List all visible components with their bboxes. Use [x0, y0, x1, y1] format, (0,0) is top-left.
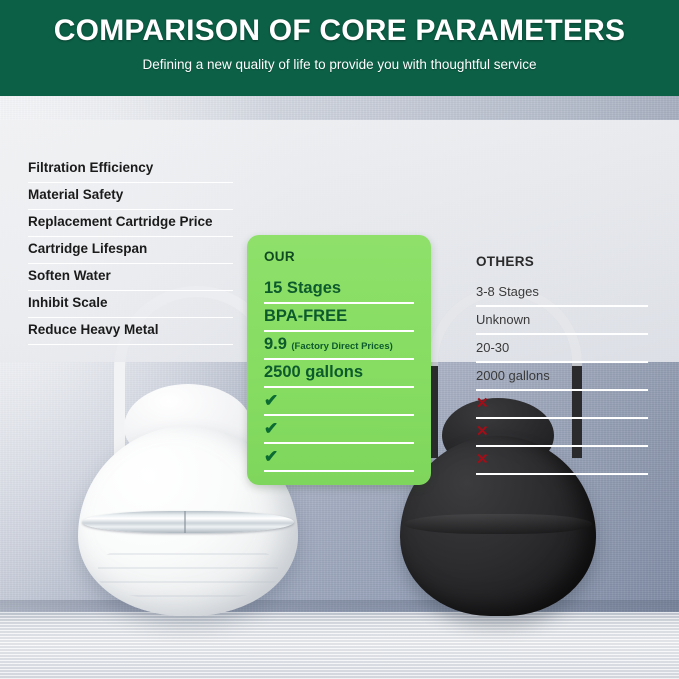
our-values: 15 Stages BPA-FREE 9.9 (Factory Direct P… [264, 276, 414, 472]
check-icon: ✔ [264, 388, 278, 413]
parameter-label: Reduce Heavy Metal [28, 318, 233, 345]
our-value-row: ✔ [264, 416, 414, 444]
our-value-row: BPA-FREE [264, 304, 414, 332]
parameter-column: Filtration Efficiency Material Safety Re… [28, 156, 233, 345]
black-pitcher-band [404, 514, 592, 534]
our-value-row: ✔ [264, 444, 414, 472]
others-column-heading: OTHERS [476, 252, 648, 279]
infographic-page: COMPARISON OF CORE PARAMETERS Defining a… [0, 0, 679, 679]
others-value-row: ✕ [476, 419, 648, 447]
our-column-heading: OUR [264, 249, 295, 264]
cross-icon: ✕ [476, 419, 489, 444]
parameter-label: Replacement Cartridge Price [28, 210, 233, 237]
our-value-text: 9.9 [264, 335, 287, 353]
our-value-text: BPA-FREE [264, 307, 347, 325]
our-value-row: 2500 gallons [264, 360, 414, 388]
white-pitcher-band-seam [184, 511, 186, 533]
check-icon: ✔ [264, 416, 278, 441]
others-values: 3-8 Stages Unknown 20-30 2000 gallons ✕ … [476, 279, 648, 475]
parameter-label: Soften Water [28, 264, 233, 291]
others-value-row: Unknown [476, 307, 648, 335]
page-header: COMPARISON OF CORE PARAMETERS Defining a… [0, 0, 679, 96]
white-pitcher-chrome-band [82, 511, 294, 533]
check-icon: ✔ [264, 444, 278, 469]
our-value-row: 15 Stages [264, 276, 414, 304]
our-value-note: (Factory Direct Prices) [291, 341, 392, 352]
our-value-text: 15 Stages [264, 279, 341, 297]
parameter-label: Inhibit Scale [28, 291, 233, 318]
white-pitcher-ribs [98, 541, 278, 601]
parameter-label: Filtration Efficiency [28, 156, 233, 183]
cross-icon: ✕ [476, 391, 489, 416]
page-title: COMPARISON OF CORE PARAMETERS [0, 14, 679, 48]
comparison-table: Filtration Efficiency Material Safety Re… [0, 120, 679, 362]
page-subtitle: Defining a new quality of life to provid… [0, 57, 679, 72]
wooden-floor [0, 612, 679, 679]
others-value-row: 2000 gallons [476, 363, 648, 391]
others-value-row: 3-8 Stages [476, 279, 648, 307]
others-value-row: 20-30 [476, 335, 648, 363]
others-value-row: ✕ [476, 391, 648, 419]
our-column-card: OUR 15 Stages BPA-FREE 9.9 (Factory Dire… [247, 235, 431, 485]
others-column: OTHERS 3-8 Stages Unknown 20-30 2000 gal… [476, 252, 648, 475]
our-value-row: ✔ [264, 388, 414, 416]
parameter-label: Material Safety [28, 183, 233, 210]
cross-icon: ✕ [476, 447, 489, 472]
others-value-row: ✕ [476, 447, 648, 475]
our-value-text: 2500 gallons [264, 363, 363, 381]
parameter-label: Cartridge Lifespan [28, 237, 233, 264]
our-value-row: 9.9 (Factory Direct Prices) [264, 332, 414, 360]
